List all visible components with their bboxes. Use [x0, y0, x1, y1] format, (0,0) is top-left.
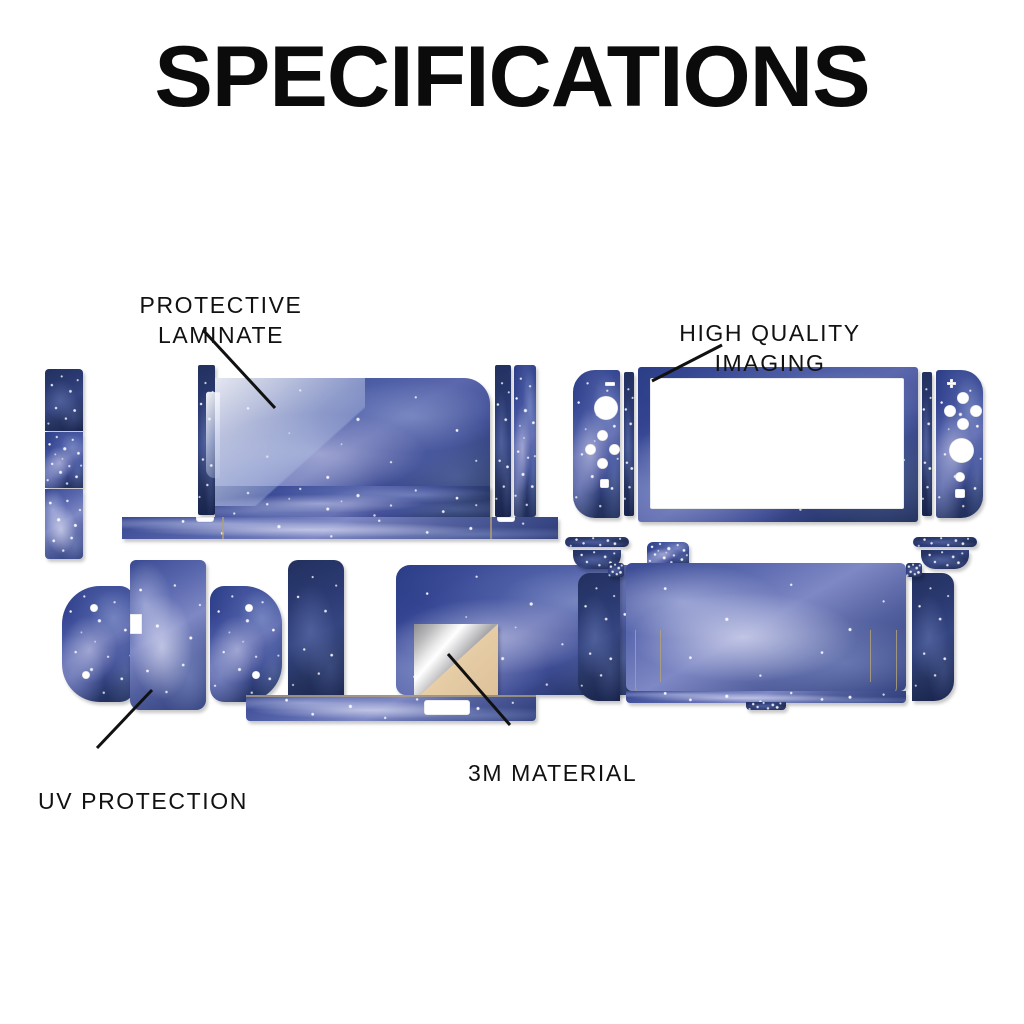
- button-b-cutout: [957, 418, 969, 430]
- skin-piece-joycon-right-rail: [922, 372, 932, 516]
- skin-piece-dock-back-left-nub: [608, 563, 624, 577]
- skin-piece-dock-right-strip-b: [514, 365, 536, 517]
- grip-screw-hole-r1: [245, 604, 253, 612]
- capture-button-cutout: [600, 479, 609, 488]
- grip-screw-hole-l2: [82, 671, 90, 679]
- callout-protective-laminate-label: PROTECTIVE LAMINATE: [140, 292, 303, 347]
- skin-piece-dock-tab-center: [647, 542, 689, 564]
- skin-piece-joycon-grip-left-inner: [130, 560, 206, 710]
- skin-piece-dock-tab-right-lower: [921, 550, 969, 569]
- minus-button-cutout: [605, 382, 615, 386]
- callout-uv-protection: UV PROTECTION: [38, 758, 338, 817]
- dock-bottom-port-cutout: [424, 700, 470, 715]
- plus-button-cutout-h: [947, 382, 956, 385]
- button-a-cutout: [970, 405, 982, 417]
- callout-uv-protection-label: UV PROTECTION: [38, 788, 248, 814]
- skin-piece-long-strip-upper: [122, 517, 558, 539]
- dpad-up-cutout: [597, 430, 608, 441]
- callout-3m-material: 3M MATERIAL: [468, 730, 768, 789]
- dpad-down-cutout: [597, 458, 608, 469]
- skin-piece-joycon-left-rail: [624, 372, 634, 516]
- strip-seam-b: [490, 517, 492, 539]
- skin-piece-joycon-grip-left-outer: [62, 586, 134, 702]
- kickstand-inner-left: [660, 630, 661, 682]
- right-square-cutout: [955, 489, 965, 498]
- skin-piece-joycon-grip-right-outer: [210, 586, 282, 702]
- callout-protective-laminate: PROTECTIVE LAMINATE: [92, 262, 350, 350]
- skin-piece-dock-back-right-nub: [906, 563, 922, 577]
- dpad-left-cutout: [585, 444, 596, 455]
- grip-screw-hole-l1: [90, 604, 98, 612]
- skin-piece-side-strip-mid: [45, 432, 83, 488]
- skin-piece-dock-front-panel-lower: [215, 486, 490, 518]
- grip-left-inner-notch: [130, 614, 142, 634]
- skin-piece-dock-back-left-wing: [578, 573, 620, 701]
- callout-high-quality-imaging: HIGH QUALITY IMAGING: [636, 290, 904, 378]
- callout-high-quality-imaging-label: HIGH QUALITY IMAGING: [679, 320, 861, 375]
- skin-piece-dock-back-bottom-tab: [746, 702, 786, 710]
- console-screen-cutout: [650, 378, 904, 509]
- callout-3m-material-label: 3M MATERIAL: [468, 760, 637, 786]
- skin-piece-left-nub: [198, 365, 215, 515]
- dpad-right-cutout: [609, 444, 620, 455]
- skin-piece-dock-tab-right-upper: [913, 537, 977, 547]
- skin-piece-dock-right-strip-a: [495, 365, 511, 517]
- button-x-cutout: [957, 392, 969, 404]
- strip-seam-a: [222, 517, 224, 539]
- 3m-material-swatch: [414, 624, 498, 700]
- strip-notch-right: [497, 517, 515, 522]
- skin-piece-joycon-grip-far-right: [288, 560, 344, 702]
- button-y-cutout: [944, 405, 956, 417]
- skin-piece-side-strip-top: [45, 369, 83, 431]
- dock-bottom-seam: [246, 695, 536, 697]
- home-button-cutout: [955, 472, 965, 482]
- grip-screw-hole-r2: [252, 671, 260, 679]
- kickstand-inner-right: [870, 630, 871, 682]
- right-analog-stick-cutout: [949, 438, 974, 463]
- skin-piece-dock-tab-left-upper: [565, 537, 629, 547]
- skin-piece-side-strip-bottom: [45, 489, 83, 559]
- page-title: SPECIFICATIONS: [0, 34, 1024, 120]
- strip-notch-left: [196, 517, 214, 522]
- skin-piece-dock-bottom-strip: [246, 695, 536, 721]
- skin-piece-dock-back-right-wing: [912, 573, 954, 701]
- kickstand-outline: [635, 630, 897, 697]
- infographic-canvas: SPECIFICATIONS: [0, 0, 1024, 1024]
- left-analog-stick-cutout: [594, 396, 618, 420]
